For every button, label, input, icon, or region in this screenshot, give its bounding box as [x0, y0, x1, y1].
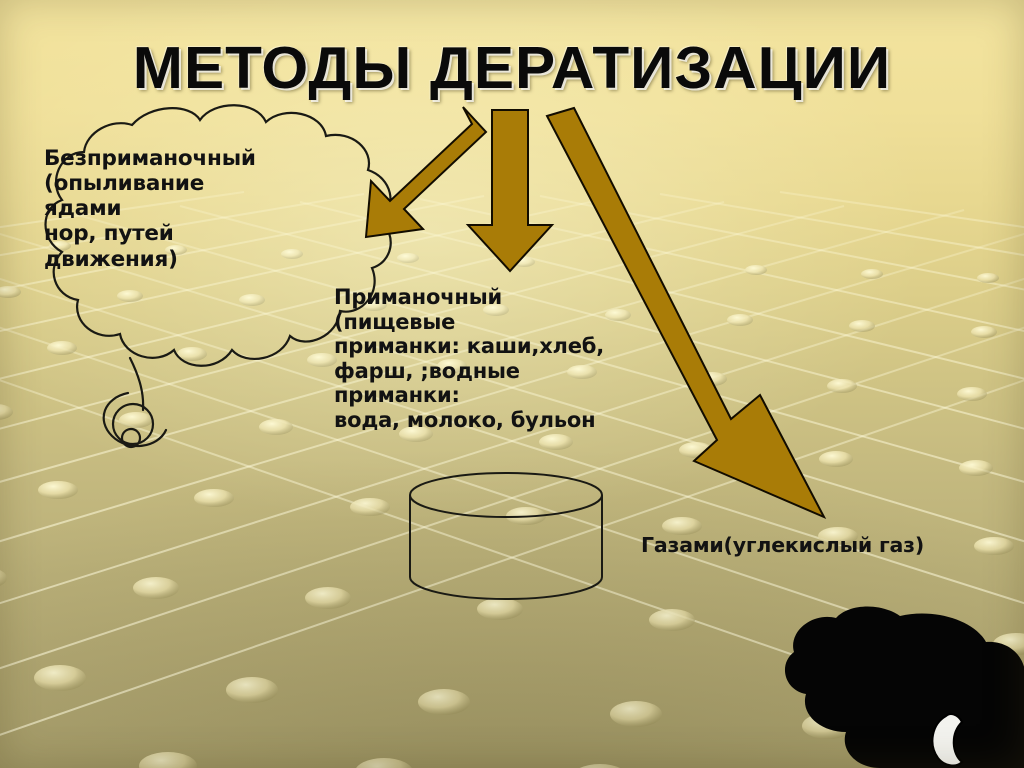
page-title: МЕТОДЫ ДЕРАТИЗАЦИИ [0, 34, 1024, 102]
label-bait-method: Приманочный (пищевые приманки: каши,хлеб… [334, 285, 604, 432]
label-non-bait-method: Безприманочный (опыливание ядами нор, пу… [44, 146, 256, 272]
label-gas-method: Газами(углекислый газ) [641, 533, 924, 557]
slide-canvas: МЕТОДЫ ДЕРАТИЗАЦИИ [0, 0, 1024, 768]
